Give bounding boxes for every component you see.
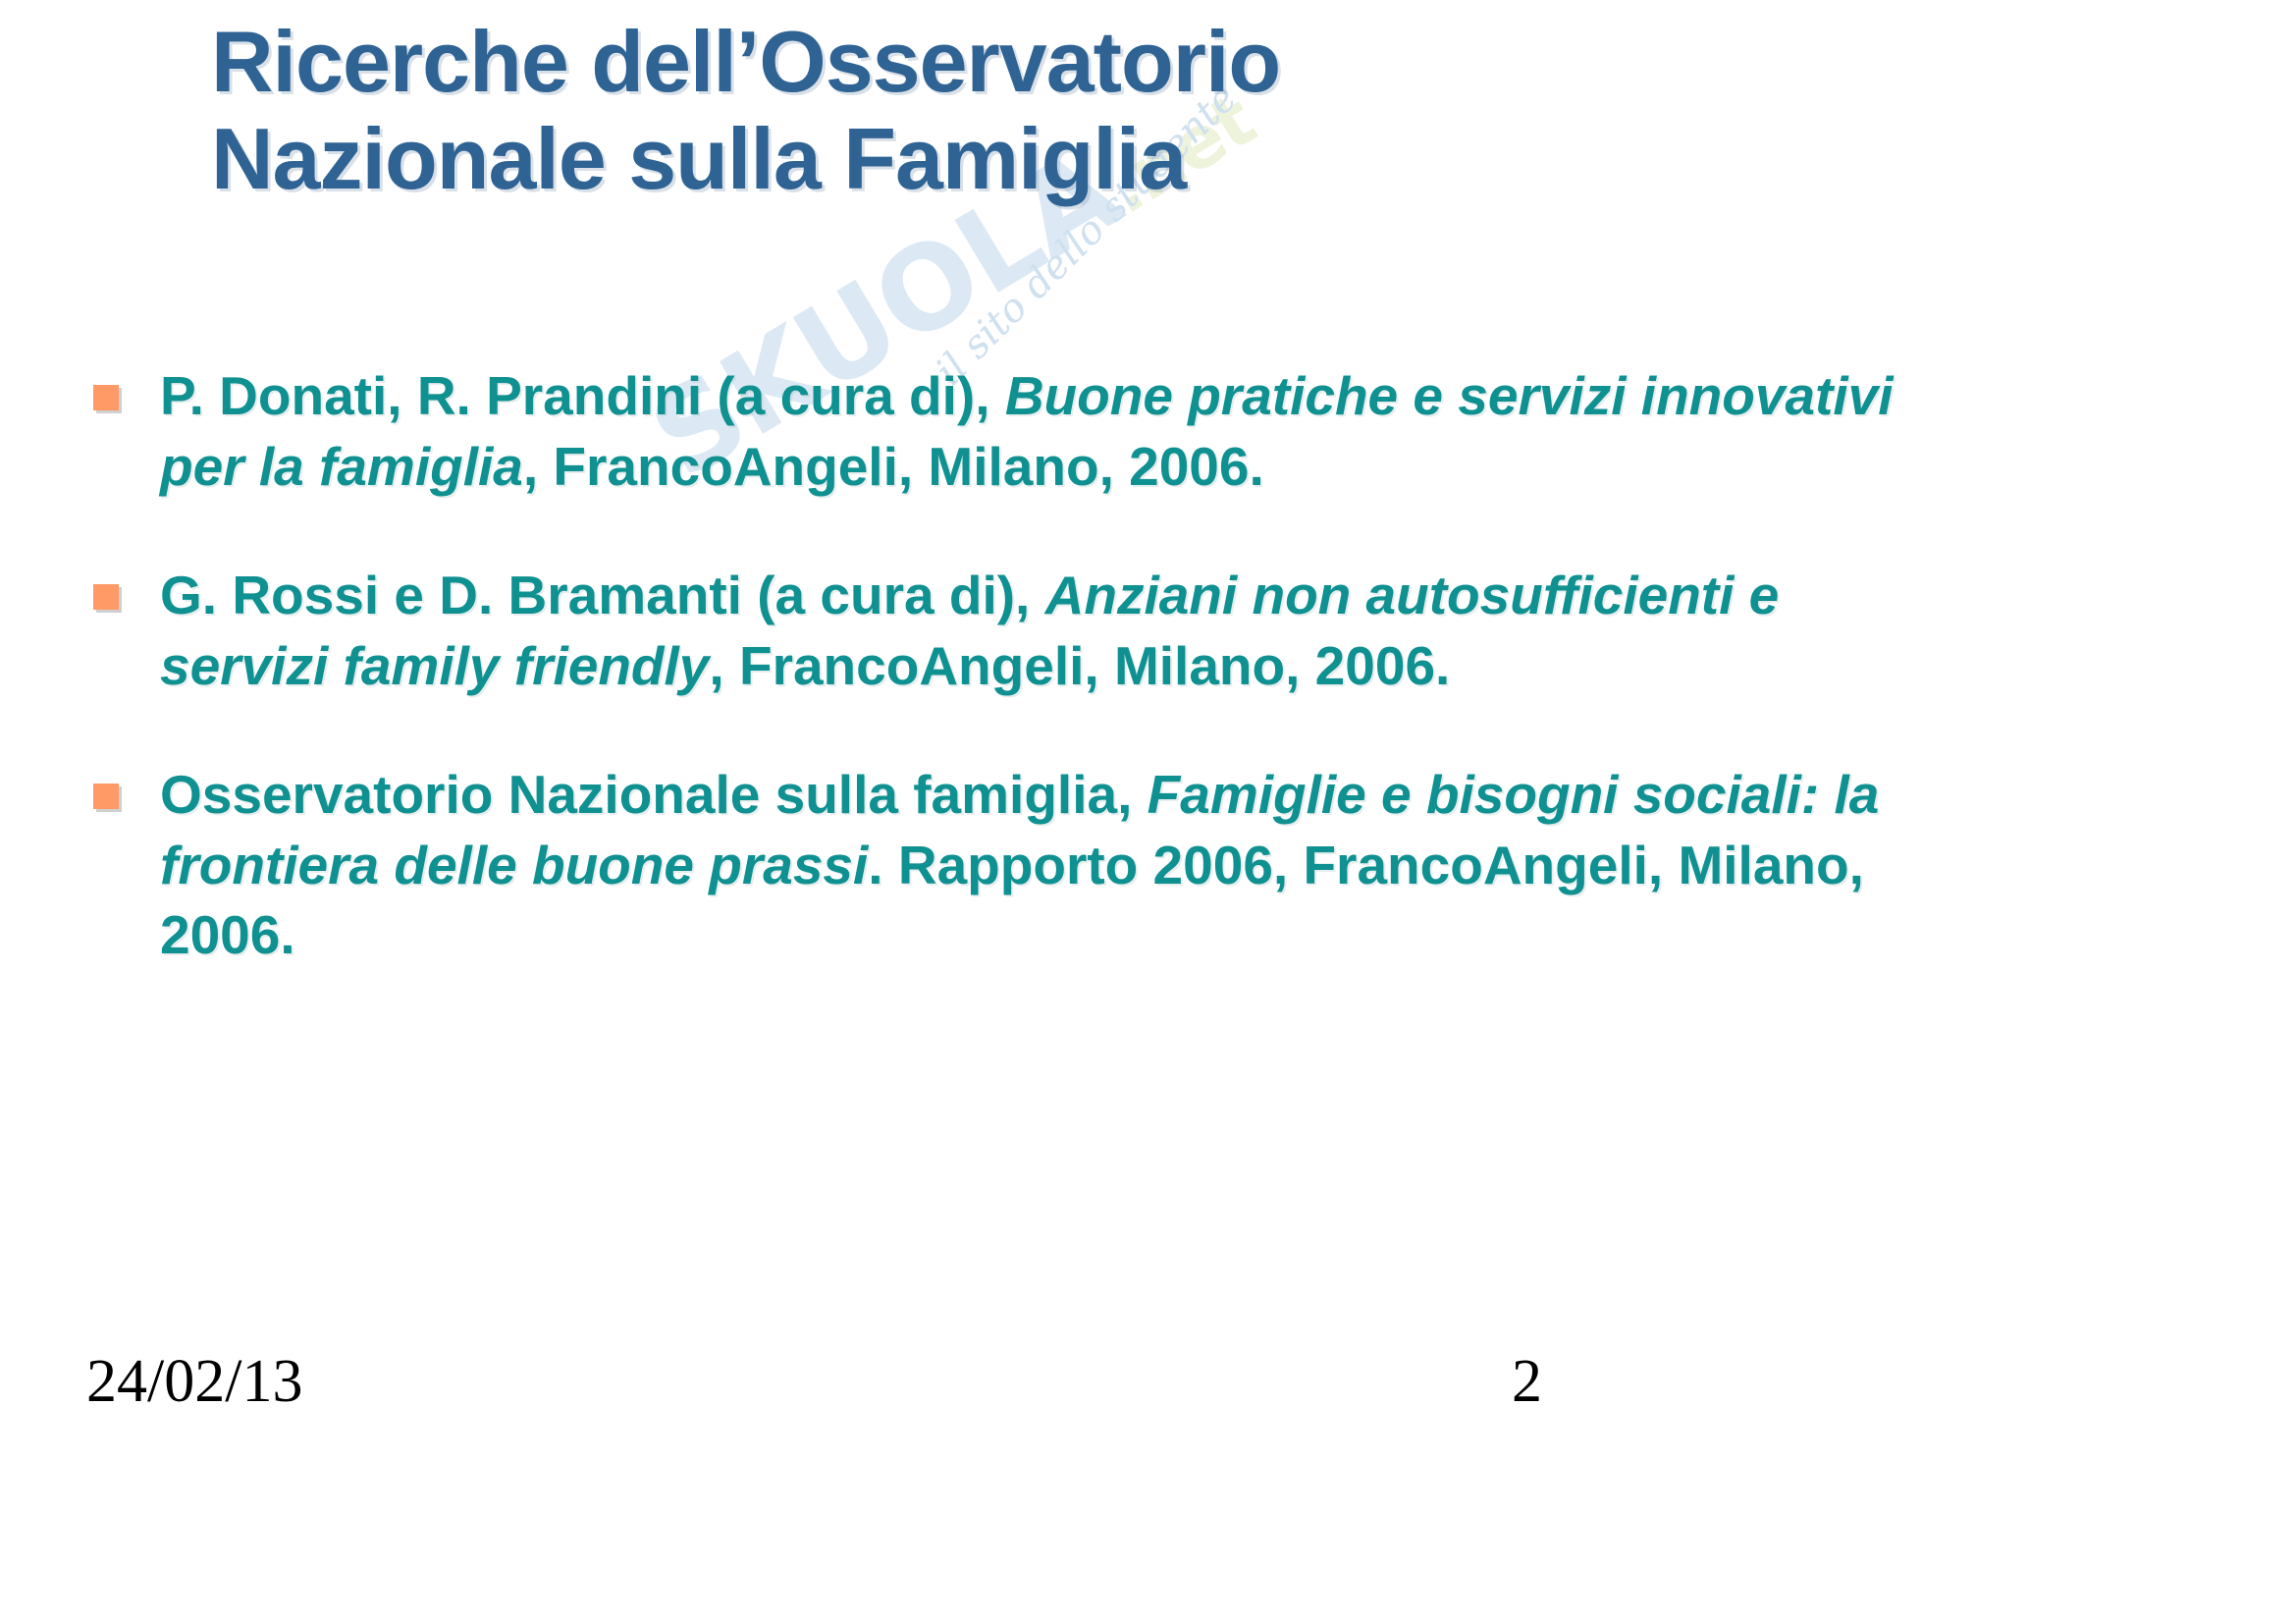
square-bullet-icon <box>93 784 119 809</box>
list-item: P. Donati, R. Prandini (a cura di), Buon… <box>93 361 2106 502</box>
footer-date: 24/02/13 <box>86 1347 302 1417</box>
footer-page-number: 2 <box>1512 1347 1542 1417</box>
reference-part-tail: , FrancoAngeli, Milano, 2006. <box>523 436 1264 497</box>
slide-title-line-2: Nazionale sulla Famiglia <box>211 111 2076 208</box>
list-item-text: G. Rossi e D. Bramanti (a cura di), Anzi… <box>160 561 1917 701</box>
reference-part-plain: G. Rossi e D. Bramanti (a cura di), <box>160 565 1045 625</box>
list-item-text: P. Donati, R. Prandini (a cura di), Buon… <box>160 361 1917 502</box>
list-item-text: Osservatorio Nazionale sulla famiglia, F… <box>160 760 1917 971</box>
square-bullet-icon <box>93 385 119 410</box>
slide-title: Ricerche dell’Osservatorio Nazionale sul… <box>211 14 2076 207</box>
square-bullet-icon <box>93 584 119 610</box>
slide-title-line-1: Ricerche dell’Osservatorio <box>211 14 2076 111</box>
bibliography-list: P. Donati, R. Prandini (a cura di), Buon… <box>93 361 2106 1030</box>
reference-part-plain: P. Donati, R. Prandini (a cura di), <box>160 365 1005 426</box>
list-item: G. Rossi e D. Bramanti (a cura di), Anzi… <box>93 561 2106 701</box>
list-item: Osservatorio Nazionale sulla famiglia, F… <box>93 760 2106 971</box>
slide-canvas: SKUOLA.net il sito dello studente Ricerc… <box>0 0 2296 1623</box>
reference-part-plain: Osservatorio Nazionale sulla famiglia, <box>160 764 1148 825</box>
reference-part-tail: , FrancoAngeli, Milano, 2006. <box>709 635 1450 696</box>
